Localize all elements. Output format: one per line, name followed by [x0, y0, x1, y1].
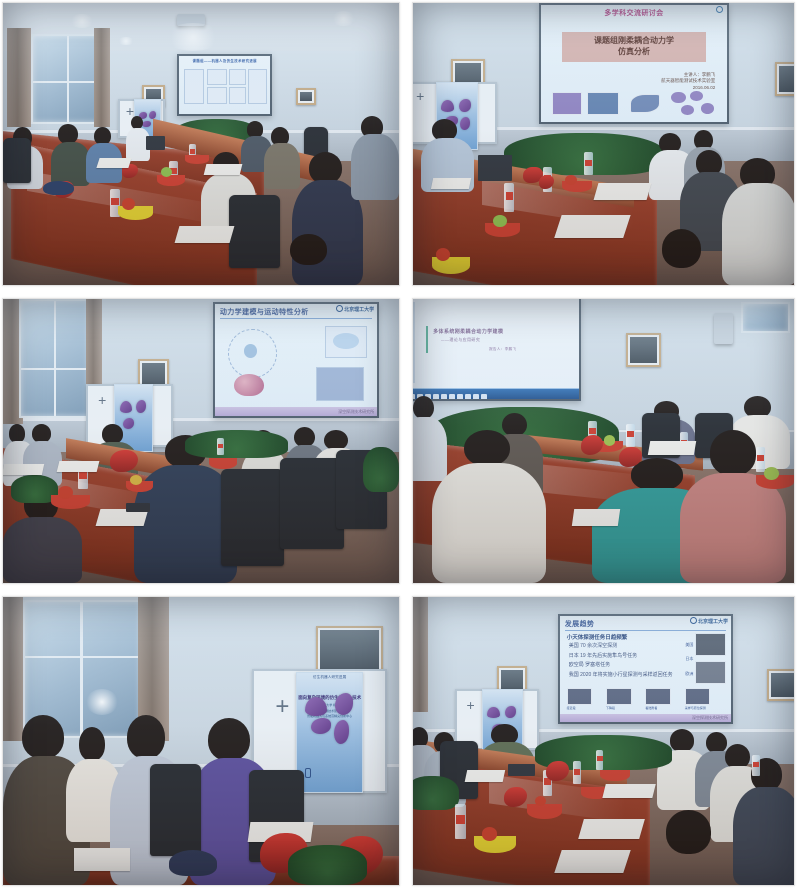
slide-side-label: 日本	[685, 656, 693, 662]
slide-title-box: 课题组刚柔耦合动力学 仿真分析	[562, 32, 705, 62]
poster-icon[interactable]: 仿生机器人研究进展 面向复杂环境的仿生机器人技术 北京理工大学 机电学院 深空探…	[296, 672, 363, 793]
attendee	[630, 229, 729, 285]
document-icon	[554, 850, 630, 873]
slide-byline: 报告人：李鹏飞	[489, 347, 516, 352]
document-icon	[648, 441, 696, 455]
photo-middle-left[interactable]: 动力学建模与运动特性分析 北京理工大学 深空探测技术研究所	[2, 298, 400, 584]
slide-content: 课题组——机器人及仿生技术研究进展	[179, 56, 270, 114]
document-icon	[3, 464, 44, 475]
document-icon	[74, 848, 129, 871]
photo-bottom-left[interactable]: + 仿生机器人研究进展 面向复杂环境的仿生机器人技术 北京理工大学 机电学院 深…	[2, 596, 400, 886]
gallery-title: Multidisciplinary Exchange Seminar Photo…	[0, 21, 1, 22]
water-bottle-icon	[584, 152, 592, 175]
office-chair-icon	[280, 458, 343, 549]
attendee-taking-notes	[432, 430, 546, 583]
slide-graphic	[671, 92, 686, 104]
slide-content: 多学科交流研讨会 课题组刚柔耦合动力学 仿真分析 主讲人：李鹏飞 航天器智能测试…	[541, 5, 728, 122]
slide-graphic	[690, 91, 703, 102]
ceiling-lamp-icon	[165, 23, 220, 51]
curtain	[94, 28, 110, 127]
slide-flow-label: 采样与原位探测	[685, 706, 706, 710]
potted-plant-icon	[185, 430, 288, 458]
slide-flow-label: 着陆附着	[645, 706, 657, 710]
projector-screen-icon: 多学科交流研讨会 课题组刚柔耦合动力学 仿真分析 主讲人：李鹏飞 航天器智能测试…	[539, 3, 730, 124]
wall-control-panel-icon	[714, 313, 733, 344]
fruit	[604, 435, 615, 445]
water-bottle-icon	[756, 447, 765, 473]
slide-byline: 主讲人：李鹏飞 航天器智能测试技术实验室 2016.06.02	[553, 72, 716, 92]
framed-picture-icon	[775, 62, 794, 96]
university-name: 北京理工大学	[698, 619, 728, 625]
downlight-icon	[118, 37, 134, 45]
document-icon	[204, 164, 242, 175]
document-icon	[593, 183, 651, 200]
slide-flow-step	[606, 688, 632, 705]
notebook-icon	[572, 509, 620, 526]
office-chair-icon	[221, 469, 284, 566]
slide-flow-step	[685, 688, 711, 705]
byline-lab: 航天器智能测试技术实验室	[553, 78, 716, 85]
slide-side-label: 欧洲	[685, 671, 693, 677]
slide-flow-label: 下降段	[606, 706, 615, 710]
projector-screen-icon: 多体系统刚柔耦合动力学建模 ——理论与应用研究 报告人：李鹏飞	[413, 299, 581, 401]
poster-body-line-3: 智能机器人与系统高精尖创新中心	[297, 714, 362, 719]
water-bottle-icon	[752, 755, 760, 775]
university-logo: 北京理工大学	[690, 617, 728, 625]
university-logo: 北京理工大学	[336, 305, 374, 313]
slide-flow-step	[567, 688, 593, 705]
fruit	[130, 475, 142, 485]
downlight-icon	[332, 11, 356, 25]
framed-picture-icon	[296, 88, 316, 105]
water-bottle-icon	[573, 761, 581, 784]
slide-flow-step	[645, 688, 671, 705]
document-icon	[431, 178, 471, 189]
poster-header: 仿生机器人研究进展	[297, 675, 362, 680]
framed-picture-icon	[316, 626, 383, 675]
slide-header: 多学科交流研讨会	[547, 8, 722, 18]
slide-content: 动力学建模与运动特性分析 北京理工大学 深空探测技术研究所	[215, 304, 377, 416]
photo-1-slide-title: 课题组——机器人及仿生技术研究进展	[183, 58, 266, 63]
document-icon	[175, 226, 235, 243]
potted-plant-icon	[413, 776, 459, 811]
curtain	[7, 28, 31, 127]
slide-sidebar-thumbnails	[413, 302, 415, 383]
slide-title-line-1: 课题组刚柔耦合动力学	[564, 36, 703, 47]
baseball-cap-icon	[169, 850, 217, 876]
document-icon	[578, 819, 645, 839]
attendee	[722, 158, 794, 285]
laptop-icon	[146, 136, 166, 150]
fruit-bowl-icon	[527, 804, 561, 818]
slide-content: 发展趋势 北京理工大学 小天体探测任务日趋频繁 美国 70 余次深空探测 日本 …	[560, 616, 731, 721]
attendee-foreground	[634, 810, 741, 885]
photo-1-scene: 课题组——机器人及仿生技术研究进展 +	[3, 3, 399, 285]
attendee-foreground	[733, 758, 794, 885]
photo-5-scene: + 仿生机器人研究进展 面向复杂环境的仿生机器人技术 北京理工大学 机电学院 深…	[3, 597, 399, 885]
photo-bottom-right[interactable]: 发展趋势 北京理工大学 小天体探测任务日趋频繁 美国 70 余次深空探测 日本 …	[412, 596, 795, 886]
slide-graphic	[701, 103, 714, 114]
slide-thumbnail	[587, 92, 619, 115]
photo-gallery: Multidisciplinary Exchange Seminar Photo…	[0, 0, 800, 888]
document-icon	[602, 784, 655, 798]
attendee-foreground	[680, 430, 787, 583]
university-logo	[716, 6, 724, 14]
projector-screen-icon: 动力学建模与运动特性分析 北京理工大学 深空探测技术研究所	[213, 302, 379, 418]
slide-plot	[316, 367, 365, 401]
potted-plant-icon	[363, 447, 399, 492]
fruit	[493, 215, 507, 227]
projector-screen-icon: 课题组——机器人及仿生技术研究进展	[177, 54, 272, 116]
poster-seal-icon	[305, 768, 312, 778]
water-bottle-icon	[504, 183, 514, 211]
slide-subtitle: ——理论与应用研究	[441, 337, 481, 343]
laptop-icon	[508, 764, 535, 776]
slide-footer: 深空探测技术研究所	[338, 409, 374, 415]
slide-body-graphic	[244, 344, 257, 357]
fruit	[58, 486, 72, 498]
attendee	[86, 127, 122, 183]
office-chair-icon	[150, 764, 201, 856]
document-icon	[465, 770, 506, 782]
photo-4-scene: 多体系统刚柔耦合动力学建模 ——理论与应用研究 报告人：李鹏飞	[413, 299, 794, 583]
slide-flow-label: 接近段	[567, 706, 576, 710]
water-bottle-icon	[626, 424, 634, 447]
photo-2-scene: 多学科交流研讨会 课题组刚柔耦合动力学 仿真分析 主讲人：李鹏飞 航天器智能测试…	[413, 3, 794, 285]
photo-top-right[interactable]: 多学科交流研讨会 课题组刚柔耦合动力学 仿真分析 主讲人：李鹏飞 航天器智能测试…	[412, 2, 795, 286]
slide-thumbnail	[630, 94, 660, 113]
fruit	[565, 175, 576, 185]
projector-screen-icon: 发展趋势 北京理工大学 小天体探测任务日趋频繁 美国 70 余次深空探测 日本 …	[558, 614, 733, 723]
slide-header: 多体系统刚柔耦合动力学建模	[433, 328, 503, 335]
water-bottle-icon	[596, 750, 604, 770]
fruit	[482, 827, 497, 840]
document-icon	[57, 461, 99, 472]
slide-graphic	[681, 105, 694, 116]
photo-6-scene: 发展趋势 北京理工大学 小天体探测任务日趋频繁 美国 70 余次深空探测 日本 …	[413, 597, 794, 885]
water-bottle-icon	[217, 438, 224, 455]
window-glare	[86, 689, 118, 715]
flower	[619, 447, 642, 467]
photo-top-left[interactable]: 课题组——机器人及仿生技术研究进展 +	[2, 2, 400, 286]
framed-picture-icon	[767, 669, 794, 701]
baseball-cap-icon	[43, 181, 75, 195]
slide-content: 多体系统刚柔耦合动力学建模 ——理论与应用研究 报告人：李鹏飞	[413, 299, 579, 399]
water-bottle-icon	[455, 804, 466, 839]
document-icon	[96, 158, 131, 168]
slide-thumbnail	[695, 661, 726, 684]
attendee	[51, 124, 91, 186]
slide-body-graphic	[234, 374, 263, 396]
photo-3-scene: 动力学建模与运动特性分析 北京理工大学 深空探测技术研究所	[3, 299, 399, 583]
laptop-icon	[478, 155, 512, 180]
slide-title-line-2: 仿真分析	[564, 47, 703, 58]
slide-side-label: 美国	[685, 642, 693, 648]
window	[19, 299, 90, 418]
slide-thumbnail	[552, 92, 582, 115]
fruit	[764, 467, 779, 480]
office-chair-icon	[229, 195, 280, 268]
laptop-icon	[126, 503, 150, 512]
office-chair-icon	[3, 138, 31, 183]
framed-picture-icon	[626, 333, 660, 367]
curtain	[413, 597, 428, 712]
potted-plant-icon	[288, 845, 367, 885]
slide-footer: 深空探测技术研究所	[692, 715, 728, 721]
document-icon	[554, 215, 630, 238]
wall-cabinet	[741, 302, 791, 333]
photo-middle-right[interactable]: 多体系统刚柔耦合动力学建模 ——理论与应用研究 报告人：李鹏飞	[412, 298, 795, 584]
university-name: 北京理工大学	[344, 307, 374, 313]
slide-ellipse-graphic	[333, 333, 359, 349]
slide-accent-bar	[426, 326, 428, 352]
fruit-bowl-icon	[185, 155, 209, 163]
attendee	[351, 116, 399, 201]
slide-thumbnail	[695, 633, 726, 656]
